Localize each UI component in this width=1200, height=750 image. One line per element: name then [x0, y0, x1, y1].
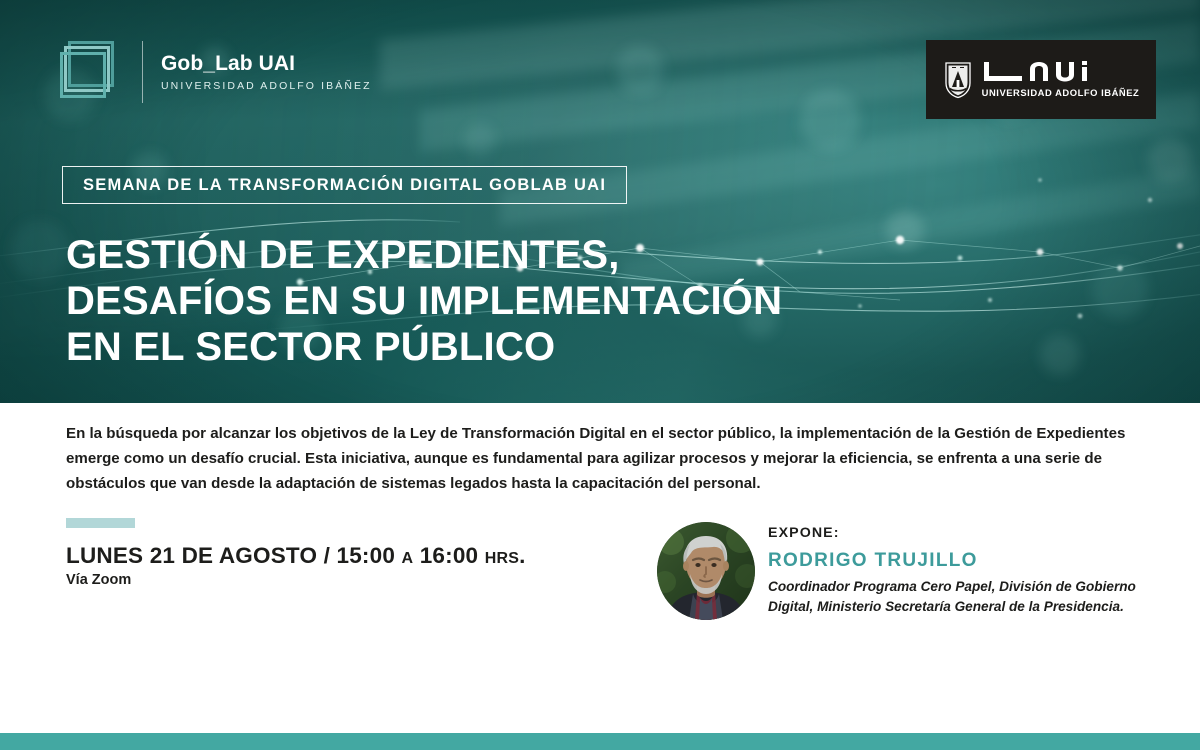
speaker-label: EXPONE: [768, 525, 1148, 541]
uai-wordmark-icon [982, 61, 1114, 83]
sponsors-bar: AUSPICIA: Google PATROCINAN: [0, 660, 1200, 730]
goblab-logo-name: Gob_Lab UAI [161, 52, 372, 76]
footer-bar [0, 733, 1200, 750]
title-line-3: EN EL SECTOR PÚBLICO [66, 324, 946, 370]
nested-squares-icon [60, 41, 122, 103]
event-series-badge: SEMANA DE LA TRANSFORMACIÓN DIGITAL GOBL… [62, 166, 627, 204]
speaker-avatar [657, 522, 755, 620]
event-venue: Vía Zoom [66, 572, 131, 588]
logo-divider [142, 41, 143, 103]
speaker-name: RODRIGO TRUJILLO [768, 550, 1148, 572]
poster-root: Gob_Lab UAI UNIVERSIDAD ADOLFO IBÁÑEZ [0, 0, 1200, 750]
goblab-logo[interactable]: Gob_Lab UAI UNIVERSIDAD ADOLFO IBÁÑEZ [60, 41, 372, 103]
event-series-badge-label: SEMANA DE LA TRANSFORMACIÓN DIGITAL GOBL… [83, 176, 606, 195]
title-line-2: DESAFÍOS EN SU IMPLEMENTACIÓN [66, 278, 946, 324]
hero-section: Gob_Lab UAI UNIVERSIDAD ADOLFO IBÁÑEZ [0, 0, 1200, 403]
uai-subtitle: UNIVERSIDAD ADOLFO IBÁÑEZ [982, 87, 1140, 98]
speaker-role: Coordinador Programa Cero Papel, Divisió… [768, 577, 1148, 616]
lead-paragraph: En la búsqueda por alcanzar los objetivo… [66, 421, 1136, 496]
title-line-1: GESTIÓN DE EXPEDIENTES, [66, 232, 946, 278]
goblab-logo-subtitle: UNIVERSIDAD ADOLFO IBÁÑEZ [161, 80, 372, 92]
page-title: GESTIÓN DE EXPEDIENTES, DESAFÍOS EN SU I… [66, 232, 946, 370]
accent-bar [66, 518, 135, 528]
uai-logo[interactable]: UNIVERSIDAD ADOLFO IBÁÑEZ [926, 40, 1156, 119]
shield-crest-icon [943, 61, 973, 99]
event-date-time: LUNES 21 DE AGOSTO / 15:00 a 16:00 hrs. [66, 543, 526, 569]
